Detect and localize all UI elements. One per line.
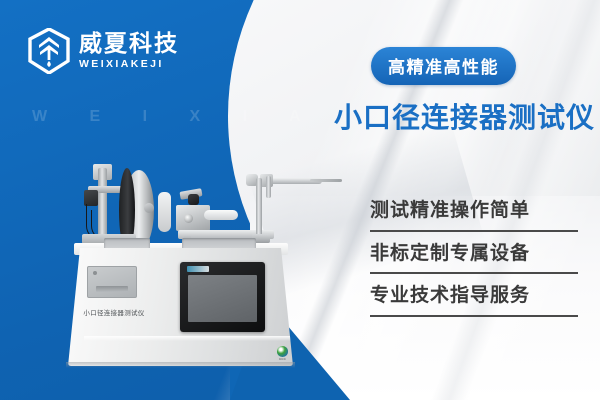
feature-item: 非标定制专属设备 [370, 241, 582, 275]
fixture-knob [188, 194, 199, 205]
machine-ground-shadow [66, 362, 295, 368]
brand-logo: 威夏科技 WEIXIAKEJI [28, 28, 179, 74]
hero-badge: 高精准高性能 [371, 47, 516, 85]
product-banner: 威夏科技 WEIXIAKEJI W E I X I A K E 高精准高性能 小… [0, 0, 600, 400]
hmi-display[interactable] [188, 275, 257, 322]
cabinet-bevel [84, 336, 294, 341]
drive-wheel-hub [144, 203, 154, 213]
hmi-touchscreen[interactable] [180, 262, 265, 332]
certification-seal-icon [277, 346, 288, 357]
brand-name-cn: 威夏科技 [79, 32, 179, 55]
feature-divider [370, 272, 578, 274]
probe-column-upper [266, 176, 271, 198]
certification-badge: CCC [276, 346, 289, 361]
feature-item: 测试精准操作简单 [370, 198, 582, 232]
probe-tip [310, 179, 342, 182]
fixture-roller [204, 210, 238, 220]
feature-label: 测试精准操作简单 [370, 198, 582, 224]
product-machine-image: 小口径连接器测试仪 CCC [60, 160, 325, 370]
machine-nameplate-label: 小口径连接器测试仪 [74, 307, 154, 317]
brand-logo-text: 威夏科技 WEIXIAKEJI [79, 32, 179, 70]
feature-label: 专业技术指导服务 [370, 283, 582, 309]
certification-label: CCC [279, 357, 286, 361]
hero-headline: 小口径连接器测试仪 [334, 96, 595, 136]
access-panel[interactable] [87, 266, 137, 298]
feature-item: 专业技术指导服务 [370, 283, 582, 317]
brand-name-en: WEIXIAKEJI [79, 59, 179, 70]
fixture-dial [184, 214, 193, 223]
hex-shield-emblem-icon [28, 28, 70, 74]
feature-divider [370, 230, 578, 232]
feature-divider [370, 315, 578, 317]
panel-screw-icon [93, 271, 97, 275]
probe-column [256, 178, 262, 240]
feature-list: 测试精准操作简单 非标定制专属设备 专业技术指导服务 [370, 198, 582, 326]
panel-handle [96, 286, 128, 292]
specimen-paddle [158, 192, 171, 232]
hmi-brand-strip [187, 266, 209, 272]
feature-label: 非标定制专属设备 [370, 241, 582, 267]
